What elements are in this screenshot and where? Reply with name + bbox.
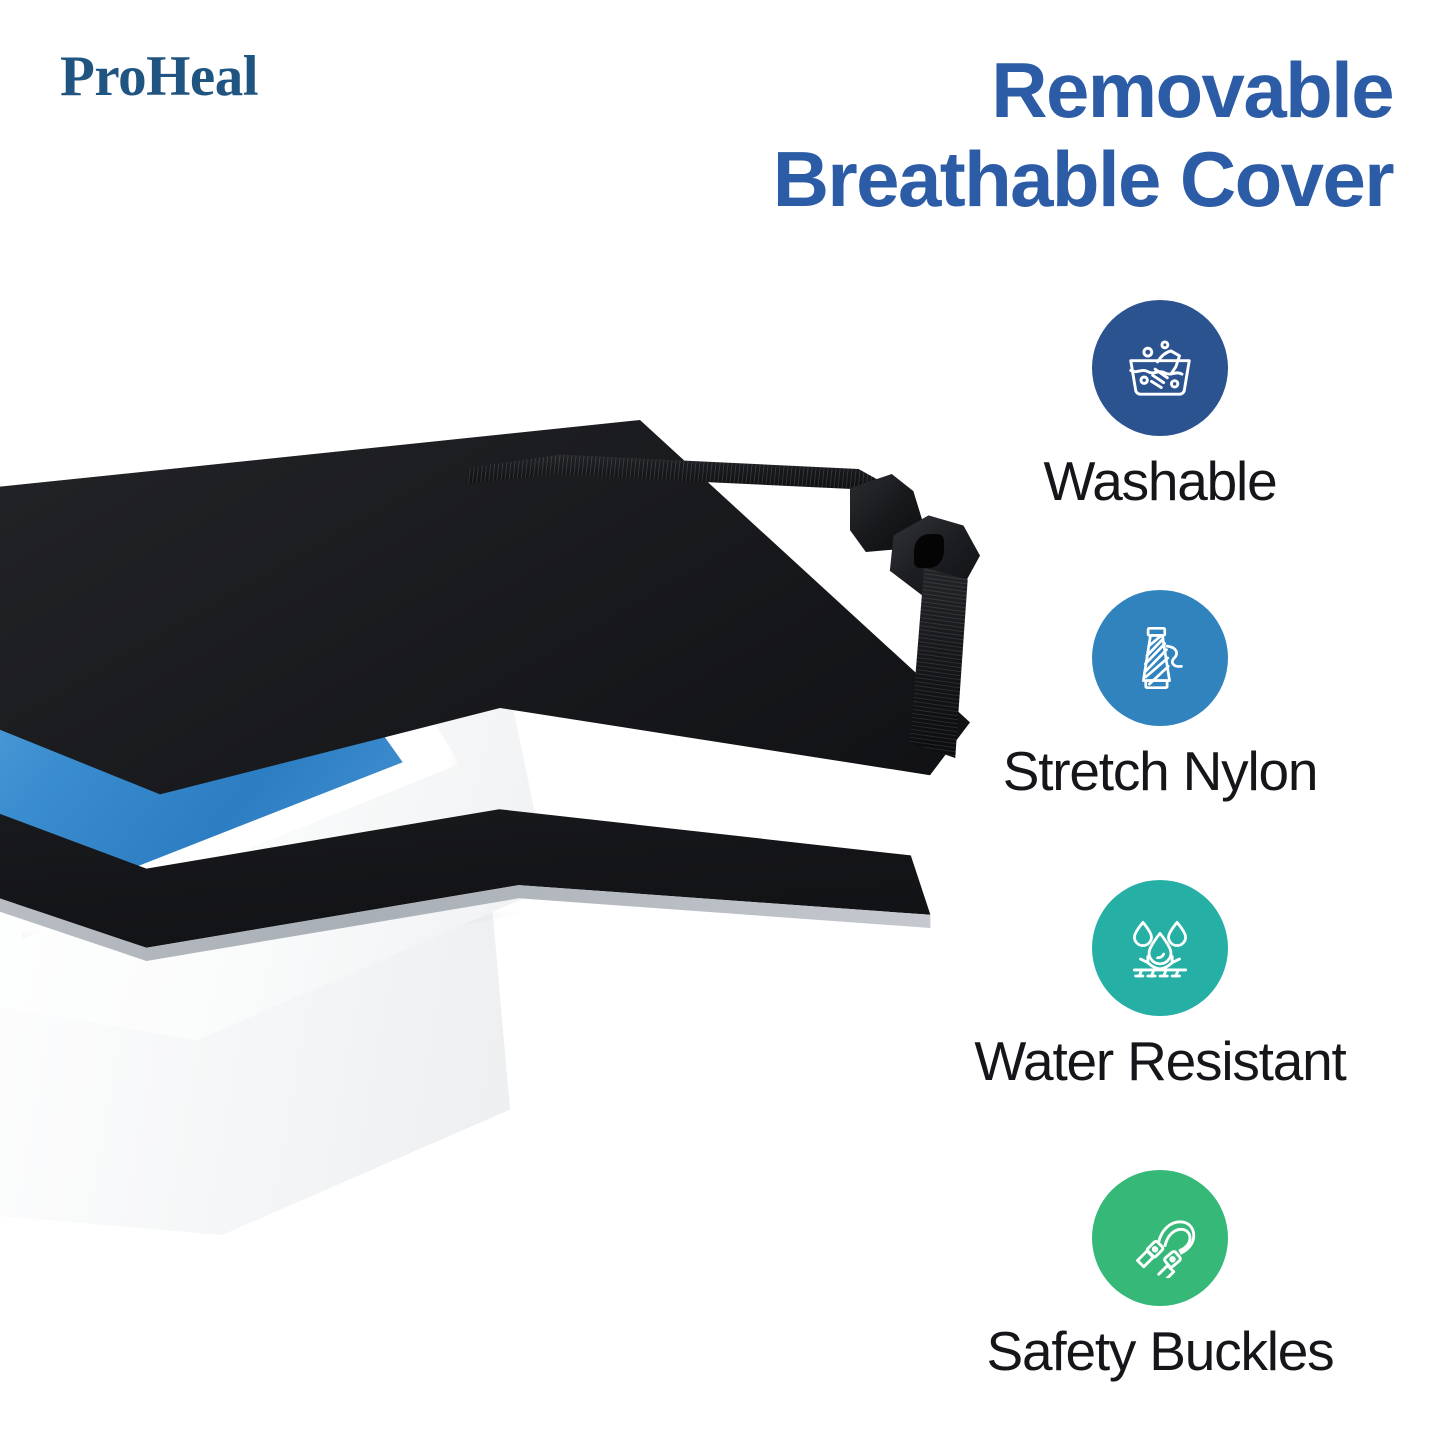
page-title-line-1: Removable <box>563 46 1393 135</box>
hand-wash-basin-icon <box>1121 329 1199 407</box>
feature-item-stretch-nylon: Stretch Nylon <box>905 590 1415 880</box>
feature-label-stretch-nylon: Stretch Nylon <box>905 743 1415 800</box>
feature-list: Washable <box>905 300 1415 1445</box>
feature-label-safety-buckles: Safety Buckles <box>905 1323 1415 1380</box>
feature-item-washable: Washable <box>905 300 1415 590</box>
product-feature-graphic: ProHeal Removable Breathable Cover <box>0 0 1445 1445</box>
page-title: Removable Breathable Cover <box>563 46 1393 224</box>
strap-buckle-icon <box>1120 1198 1200 1278</box>
feature-badge-stretch-nylon <box>1092 590 1228 726</box>
feature-badge-washable <box>1092 300 1228 436</box>
page-title-line-2: Breathable Cover <box>563 135 1393 224</box>
thread-spool-icon <box>1122 620 1198 696</box>
feature-label-washable: Washable <box>905 453 1415 510</box>
feature-badge-water-resistant <box>1092 880 1228 1016</box>
feature-badge-safety-buckles <box>1092 1170 1228 1306</box>
brand-logo: ProHeal <box>60 48 258 105</box>
feature-item-water-resistant: Water Resistant <box>905 880 1415 1170</box>
water-droplets-repel-icon <box>1121 909 1199 987</box>
feature-item-safety-buckles: Safety Buckles <box>905 1170 1415 1445</box>
product-photo <box>0 400 1000 1330</box>
feature-label-water-resistant: Water Resistant <box>905 1033 1415 1090</box>
